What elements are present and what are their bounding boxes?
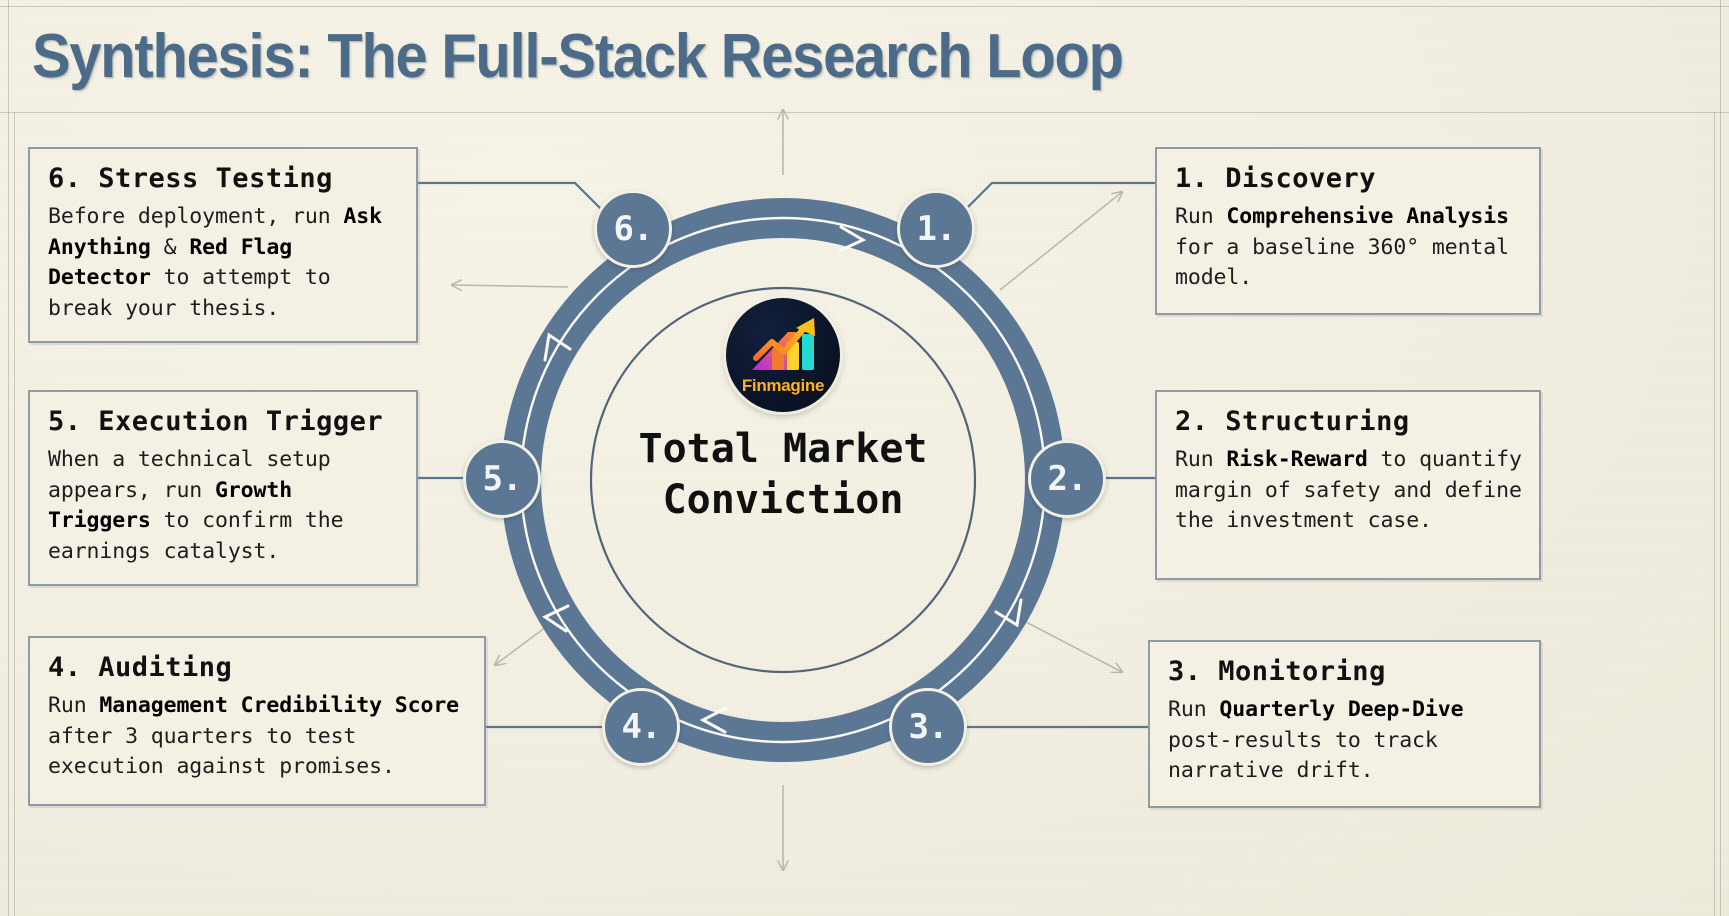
card-step-5-body: When a technical setup appears, run Grow… [48, 445, 400, 567]
card-step-3[interactable]: 3. Monitoring Run Quarterly Deep-Dive po… [1148, 640, 1541, 808]
finmagine-logo: Finmagine [726, 298, 840, 412]
card-step-1-body: Run Comprehensive Analysis for a baselin… [1175, 202, 1523, 294]
badge-step-6[interactable]: 6. [594, 190, 672, 268]
center-heading-line2: Conviction [533, 475, 1033, 526]
card-step-6[interactable]: 6. Stress Testing Before deployment, run… [28, 147, 418, 343]
card-step-2-body: Run Risk-Reward to quantify margin of sa… [1175, 445, 1523, 537]
card-step-4[interactable]: 4. Auditing Run Management Credibility S… [28, 636, 486, 806]
logo-wordmark: Finmagine [726, 376, 840, 396]
card-step-4-body: Run Management Credibility Score after 3… [48, 691, 468, 783]
badge-step-3[interactable]: 3. [889, 688, 967, 766]
badge-step-2[interactable]: 2. [1028, 440, 1106, 518]
card-step-3-title: 3. Monitoring [1168, 656, 1523, 687]
card-step-2-title: 2. Structuring [1175, 406, 1523, 437]
center-heading: Total Market Conviction [533, 424, 1033, 526]
card-step-2[interactable]: 2. Structuring Run Risk-Reward to quanti… [1155, 390, 1541, 580]
card-step-6-body: Before deployment, run Ask Anything & Re… [48, 202, 400, 324]
card-step-3-body: Run Quarterly Deep-Dive post-results to … [1168, 695, 1523, 787]
badge-step-4[interactable]: 4. [602, 688, 680, 766]
badge-step-5[interactable]: 5. [463, 440, 541, 518]
card-step-4-title: 4. Auditing [48, 652, 468, 683]
card-step-5[interactable]: 5. Execution Trigger When a technical se… [28, 390, 418, 586]
card-step-1-title: 1. Discovery [1175, 163, 1523, 194]
card-step-6-title: 6. Stress Testing [48, 163, 400, 194]
card-step-5-title: 5. Execution Trigger [48, 406, 400, 437]
center-heading-line1: Total Market [533, 424, 1033, 475]
badge-step-1[interactable]: 1. [897, 190, 975, 268]
card-step-1[interactable]: 1. Discovery Run Comprehensive Analysis … [1155, 147, 1541, 315]
infographic-page: Synthesis: The Full-Stack Research Loop [0, 0, 1729, 916]
